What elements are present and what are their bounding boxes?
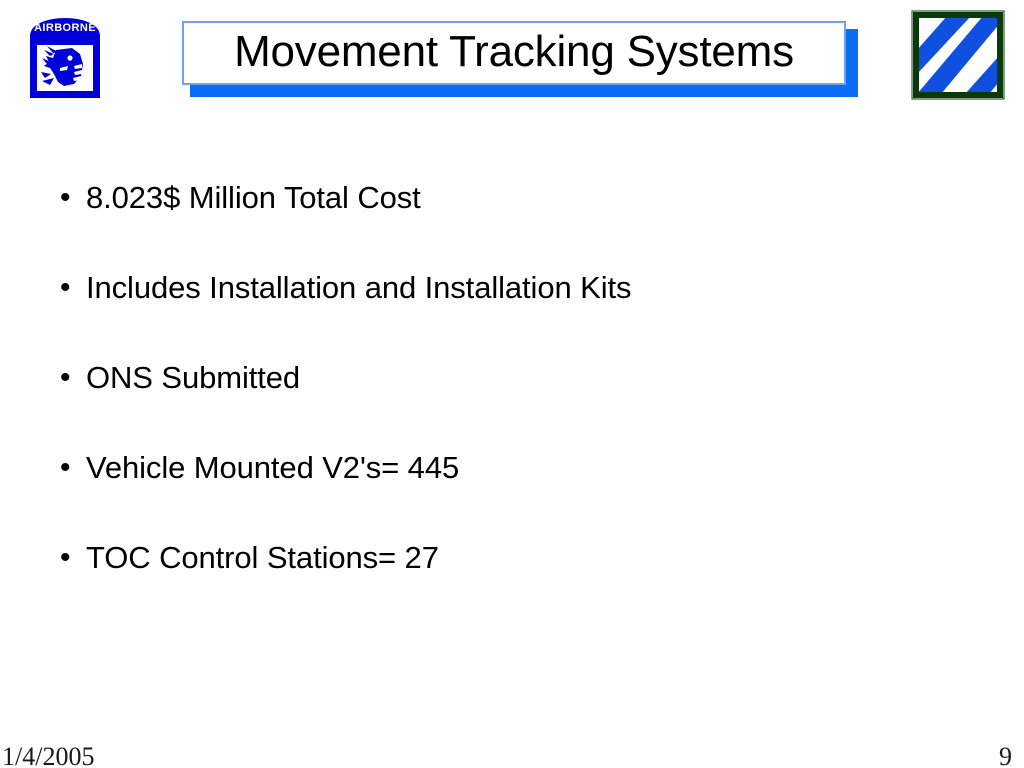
list-item: • ONS Submitted	[52, 358, 972, 448]
bullet-text: 8.023$ Million Total Cost	[86, 178, 421, 218]
bullet-marker-icon: •	[52, 178, 86, 218]
bullet-marker-icon: •	[52, 448, 86, 488]
footer-page-number: 9	[999, 742, 1012, 768]
list-item: • 8.023$ Million Total Cost	[52, 178, 972, 268]
bullet-marker-icon: •	[52, 358, 86, 398]
third-infantry-division-patch-icon	[910, 10, 1006, 100]
footer-date: 1/4/2005	[2, 742, 94, 768]
svg-text:AIRBORNE: AIRBORNE	[34, 22, 96, 34]
list-item: • Vehicle Mounted V2's= 445	[52, 448, 972, 538]
bullet-text: ONS Submitted	[86, 358, 300, 398]
bullet-text: Includes Installation and Installation K…	[86, 268, 631, 308]
bullet-marker-icon: •	[52, 268, 86, 308]
title-box: Movement Tracking Systems	[182, 21, 846, 85]
bullet-list: • 8.023$ Million Total Cost • Includes I…	[52, 178, 972, 628]
slide-canvas: AIRBORNE Movement Track	[0, 0, 1024, 768]
xviii-airborne-corps-patch-icon: AIRBORNE	[20, 6, 110, 102]
bullet-marker-icon: •	[52, 538, 86, 578]
bullet-text: Vehicle Mounted V2's= 445	[86, 448, 459, 488]
list-item: • Includes Installation and Installation…	[52, 268, 972, 358]
page-title: Movement Tracking Systems	[234, 30, 794, 77]
bullet-text: TOC Control Stations= 27	[86, 538, 439, 578]
list-item: • TOC Control Stations= 27	[52, 538, 972, 628]
